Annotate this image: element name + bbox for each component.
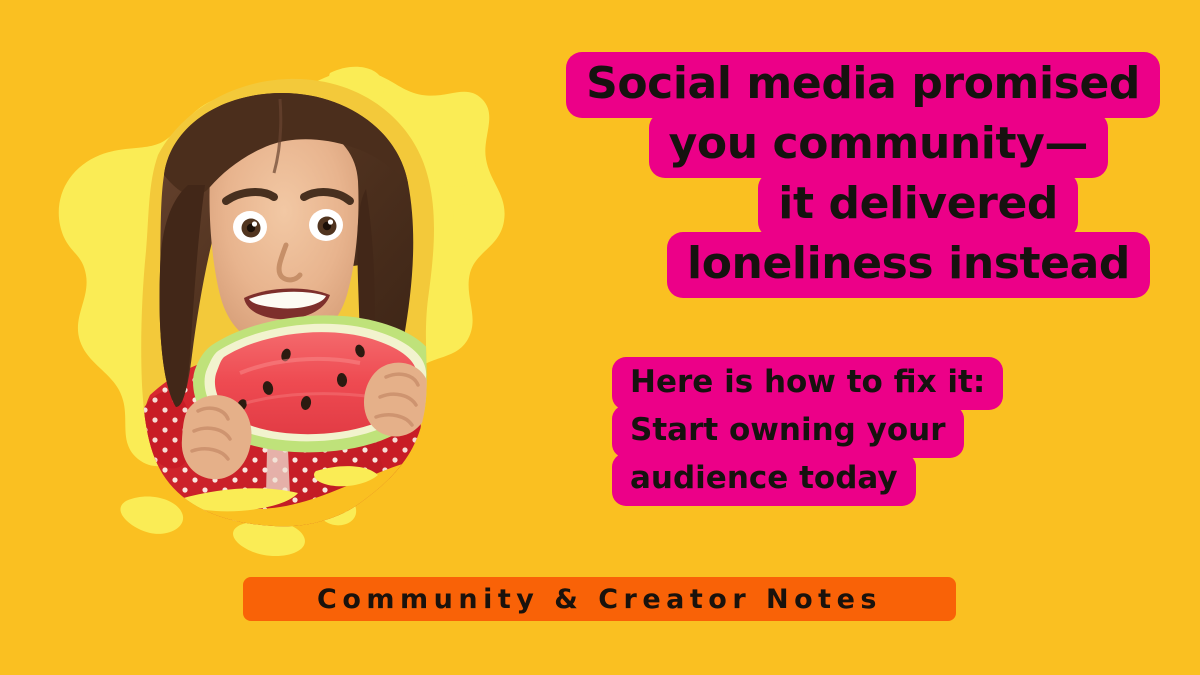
hero-visual (30, 55, 530, 560)
headline-line-2: you community— (649, 112, 1108, 178)
headline-line-4: loneliness instead (667, 232, 1150, 298)
headline-block: Social media promised you community— it … (540, 52, 1160, 298)
subheadline-line-3: audience today (612, 453, 916, 506)
girl-watermelon-photo (30, 55, 530, 560)
subheadline-line-1: Here is how to fix it: (612, 357, 1003, 410)
headline-line-3: it delivered (758, 172, 1078, 238)
subheadline-block: Here is how to fix it: Start owning your… (612, 357, 1042, 506)
series-banner: Community & Creator Notes (243, 577, 956, 621)
poster-canvas: Social media promised you community— it … (0, 0, 1200, 675)
subheadline-line-2: Start owning your (612, 405, 964, 458)
series-banner-label: Community & Creator Notes (317, 584, 882, 615)
headline-line-1: Social media promised (566, 52, 1160, 118)
